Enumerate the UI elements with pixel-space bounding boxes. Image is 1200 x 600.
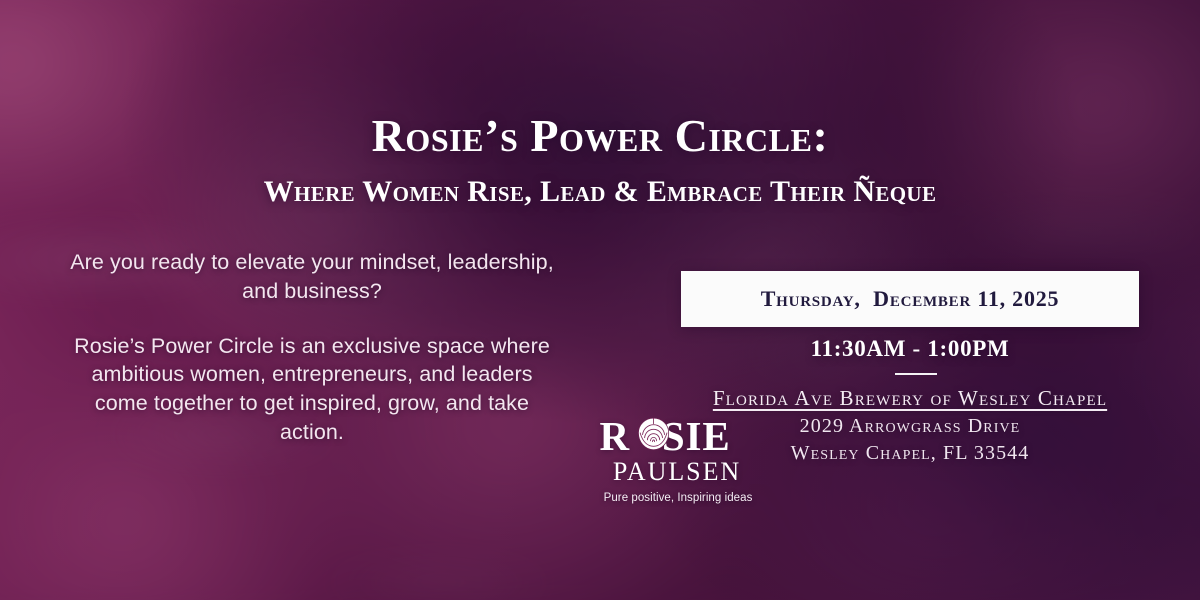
rose-icon — [632, 414, 676, 458]
title-block: Rosie’s Power Circle: Where Women Rise, … — [0, 112, 1200, 208]
body-paragraph-1: Are you ready to elevate your mindset, l… — [62, 248, 562, 306]
banner-content: Rosie’s Power Circle: Where Women Rise, … — [0, 0, 1200, 600]
event-venue: Florida Ave Brewery of Wesley Chapel — [681, 386, 1139, 411]
body-copy: Are you ready to elevate your mindset, l… — [62, 248, 562, 447]
event-time: 11:30AM - 1:00PM — [681, 336, 1139, 362]
page-title: Rosie’s Power Circle: — [0, 112, 1200, 161]
page-subtitle: Where Women Rise, Lead & Embrace Their Ñ… — [0, 175, 1200, 208]
brand-logo: R SIE — [560, 414, 770, 506]
brand-logo-tagline: Pure positive, Inspiring ideas — [560, 492, 770, 504]
brand-logo-letter-r: R — [599, 416, 629, 457]
brand-logo-wordmark: R SIE — [560, 414, 770, 458]
divider-rule — [895, 373, 937, 375]
event-date: Thursday, December 11, 2025 — [761, 286, 1060, 312]
date-badge: Thursday, December 11, 2025 — [681, 271, 1139, 327]
event-banner: Rosie’s Power Circle: Where Women Rise, … — [0, 0, 1200, 600]
body-paragraph-2: Rosie’s Power Circle is an exclusive spa… — [62, 332, 562, 447]
brand-logo-surname: PAULSEN — [560, 459, 770, 485]
